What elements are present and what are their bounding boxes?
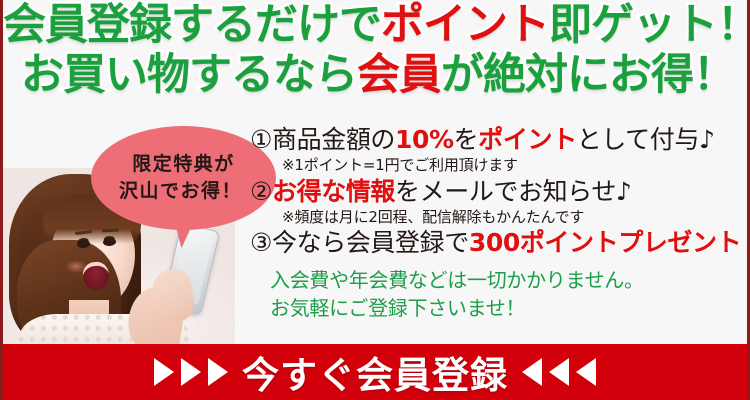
benefit-1-seg3: を	[454, 125, 479, 154]
headline-line2-seg2: 会員	[357, 50, 441, 100]
closing-note: 入会費や年会費などは一切かかりません。 お気軽にご登録下さいませ！	[250, 266, 750, 323]
benefit-note-2: ※頻度は月に2回程、配信解除もかんたんです	[250, 209, 750, 226]
benefits-list: ①商品金額の10%をポイントとして付与♪ ※1ポイント=1円でご利用頂けます ②…	[250, 126, 750, 323]
headline-line1-seg2: ポイント	[381, 0, 549, 50]
benefit-3-seg1: 今なら会員登録で	[272, 228, 469, 257]
triangle-left-icon-2	[549, 358, 569, 386]
headline-line-2: お買い物するなら会員が絶対にお得！	[3, 54, 750, 97]
headline-line1-seg3: 即ゲット！	[549, 0, 750, 50]
benefit-marker-1: ①	[250, 125, 272, 154]
triangle-right-icon-3	[208, 358, 228, 386]
closing-line-1: 入会費や年会費などは一切かかりません。	[270, 266, 750, 294]
signup-cta-bar[interactable]: 今すぐ会員登録	[3, 344, 747, 400]
headline-line-1: 会員登録するだけでポイント即ゲット！	[3, 4, 750, 47]
closing-line-2: お気軽にご登録下さいませ！	[270, 294, 750, 322]
benefit-item-1: ①商品金額の10%をポイントとして付与♪	[250, 126, 750, 153]
speech-bubble-text: 限定特典が 沢山でお得！	[91, 126, 276, 230]
triangle-right-icon-2	[181, 358, 201, 386]
benefit-item-2: ②お得な情報をメールでお知らせ♪	[250, 178, 750, 205]
cta-label: 今すぐ会員登録	[235, 345, 515, 399]
headline-block: 会員登録するだけでポイント即ゲット！ お買い物するなら会員が絶対にお得！	[3, 4, 750, 97]
speech-bubble-line-1: 限定特典が	[132, 151, 235, 178]
benefit-item-3: ③今なら会員登録で300ポイントプレゼント	[250, 229, 750, 256]
benefit-1-seg2: 10%	[395, 125, 454, 154]
headline-line2-seg1: お買い物するなら	[21, 50, 357, 100]
membership-signup-banner: 会員登録するだけでポイント即ゲット！ お買い物するなら会員が絶対にお得！ 限定特…	[0, 0, 750, 400]
headline-line2-seg3: が絶対にお得！	[441, 50, 735, 100]
benefit-1-seg4: ポイント	[478, 125, 576, 154]
benefit-1-seg5: として付与♪	[577, 125, 715, 154]
benefit-2-seg1: お得な情報	[272, 177, 395, 206]
benefit-2-seg2: をメールでお知らせ♪	[395, 177, 631, 206]
headline-line1-seg1: 会員登録するだけで	[3, 0, 381, 50]
triangle-right-icon-1	[154, 358, 174, 386]
speech-bubble-line-2: 沢山でお得！	[119, 178, 242, 205]
triangle-left-icon-3	[576, 358, 596, 386]
benefit-note-1: ※1ポイント=1円でご利用頂けます	[250, 157, 750, 174]
benefit-marker-2: ②	[250, 177, 272, 206]
benefit-marker-3: ③	[250, 228, 272, 257]
triangle-left-icon-1	[522, 358, 542, 386]
benefit-3-seg2: 300ポイントプレゼント	[469, 228, 741, 257]
benefit-1-seg1: 商品金額の	[272, 125, 395, 154]
